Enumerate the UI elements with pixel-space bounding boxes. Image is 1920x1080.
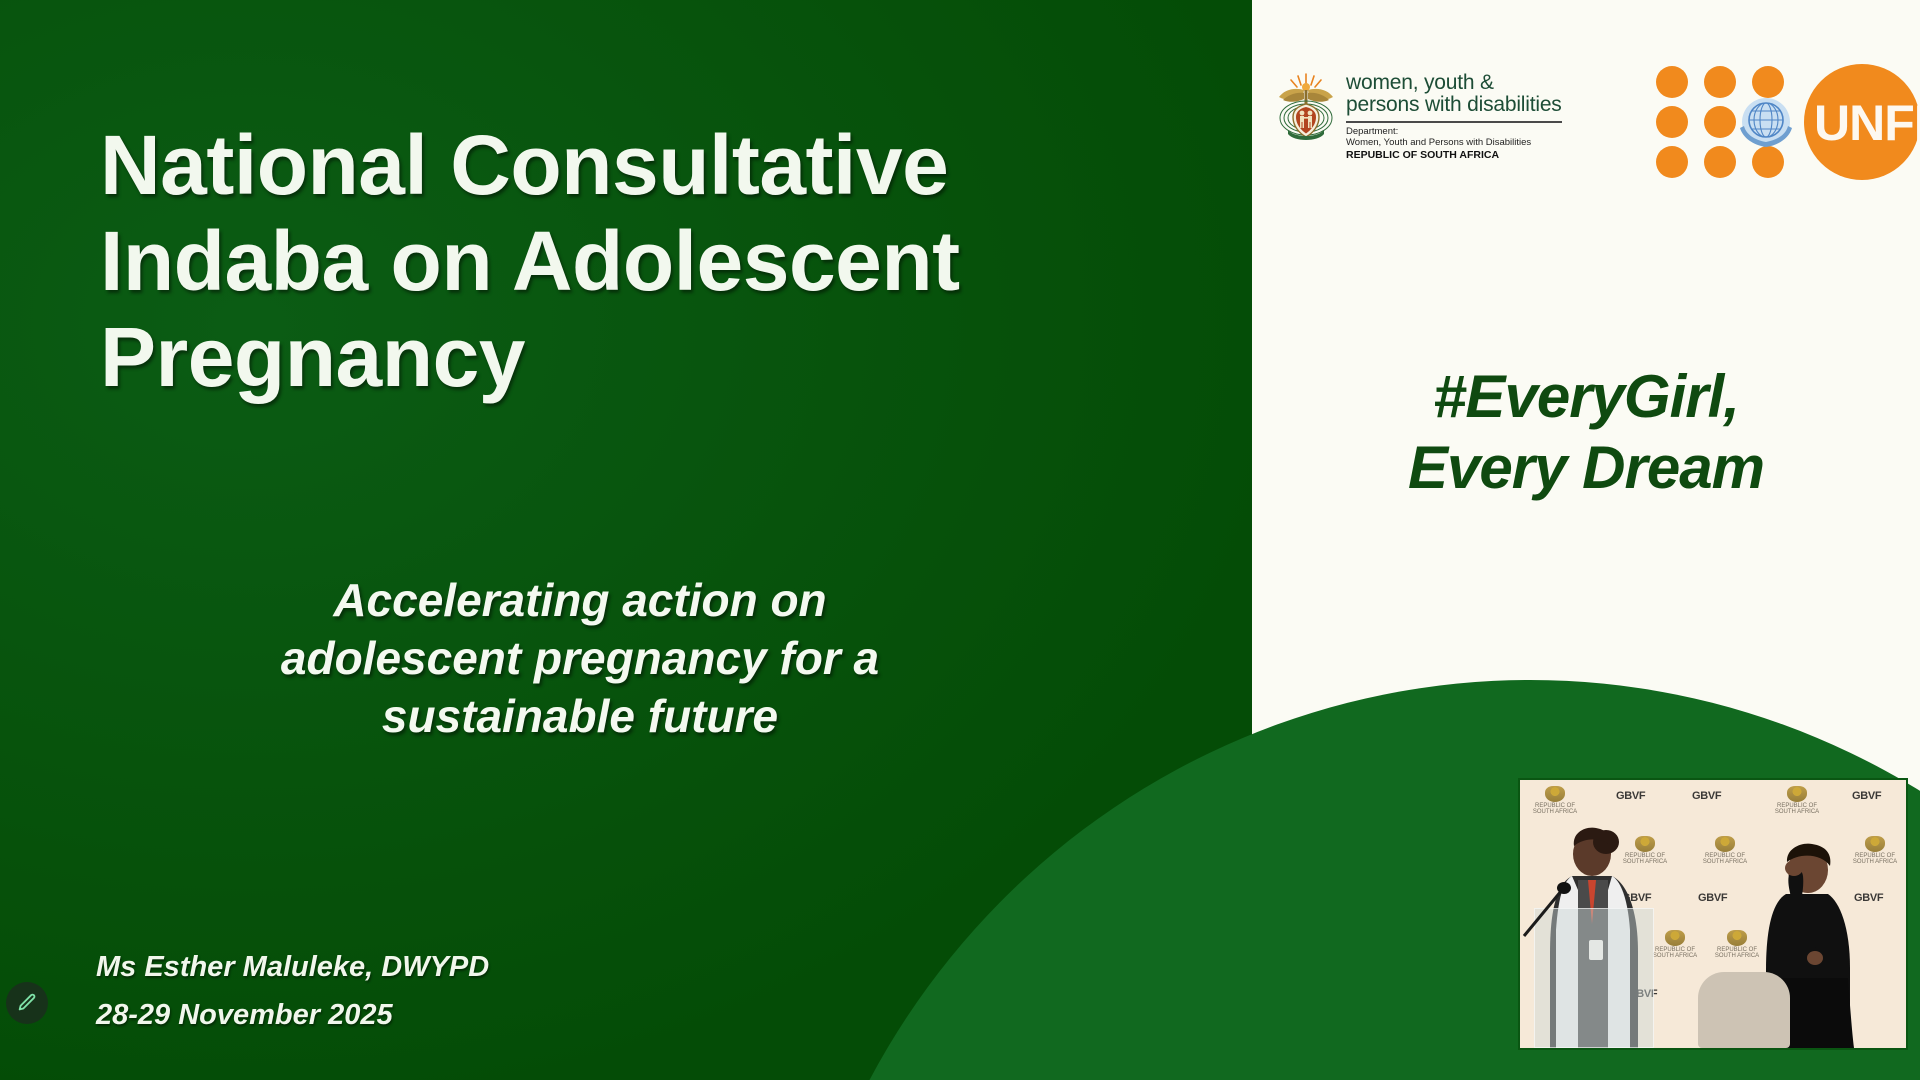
dwypd-sub-line-1: Department:	[1346, 126, 1562, 138]
backdrop-sub-text: REPUBLIC OF SOUTH AFRICA	[1703, 853, 1747, 865]
title-line-2: Indaba on Adolescent	[100, 214, 1160, 310]
dwypd-sub-line-2: Women, Youth and Persons with Disabiliti…	[1346, 137, 1562, 149]
subtitle-line-2: adolescent pregnancy for a	[180, 630, 980, 688]
backdrop-gbvf-text: GBVF	[1692, 790, 1721, 802]
chair	[1698, 972, 1790, 1048]
subtitle-line-1: Accelerating action on	[180, 572, 980, 630]
backdrop-gbvf-text: GBVF	[1698, 892, 1727, 904]
presenter-name: Ms Esther Maluleke, DWYPD	[96, 944, 489, 992]
logo-bar: women, youth & persons with disabilities…	[1252, 36, 1920, 206]
event-date: 28-29 November 2025	[96, 992, 489, 1040]
title-line-3: Pregnancy	[100, 310, 1160, 406]
south-african-coat-of-arms-icon	[1274, 70, 1338, 146]
slide-footer: Ms Esther Maluleke, DWYPD 28-29 November…	[96, 944, 489, 1040]
dwypd-sub-line-3: REPUBLIC OF SOUTH AFRICA	[1346, 149, 1562, 162]
unfpa-wordmark: UNFPA	[1814, 95, 1920, 151]
dwypd-logo: women, youth & persons with disabilities…	[1274, 70, 1562, 162]
page-title: National Consultative Indaba on Adolesce…	[100, 118, 1160, 405]
hashtag-line-1: #EveryGirl,	[1252, 362, 1920, 433]
microphone-icon	[1522, 880, 1572, 938]
edit-badge[interactable]	[6, 982, 48, 1024]
backdrop-gbvf-text: GBVF	[1616, 790, 1645, 802]
presentation-slide: National Consultative Indaba on Adolesce…	[0, 0, 1920, 1080]
pencil-edit-icon	[16, 992, 38, 1014]
unfpa-logo: UNFPA	[1654, 60, 1920, 184]
backdrop-sub-text: REPUBLIC OF SOUTH AFRICA	[1533, 803, 1577, 815]
dwypd-logo-text: women, youth & persons with disabilities…	[1346, 70, 1562, 162]
backdrop-sub-text: REPUBLIC OF SOUTH AFRICA	[1653, 947, 1697, 959]
campaign-hashtag: #EveryGirl, Every Dream	[1252, 362, 1920, 504]
backdrop-gbvf-text: GBVF	[1852, 790, 1881, 802]
live-video-feed[interactable]: REPUBLIC OF SOUTH AFRICA GBVF GBVF REPUB…	[1518, 778, 1908, 1050]
subtitle-line-3: sustainable future	[180, 688, 980, 746]
dwypd-main-line-2: persons with disabilities	[1346, 94, 1562, 116]
backdrop-sub-text: REPUBLIC OF SOUTH AFRICA	[1775, 803, 1819, 815]
dwypd-main-line-1: women, youth &	[1346, 72, 1562, 94]
backdrop-sub-text: REPUBLIC OF SOUTH AFRICA	[1715, 947, 1759, 959]
slide-subtitle: Accelerating action on adolescent pregna…	[180, 572, 980, 746]
hashtag-line-2: Every Dream	[1252, 433, 1920, 504]
united-nations-emblem-icon	[1740, 98, 1792, 147]
title-line-1: National Consultative	[100, 118, 1160, 214]
dwypd-divider	[1346, 121, 1562, 123]
